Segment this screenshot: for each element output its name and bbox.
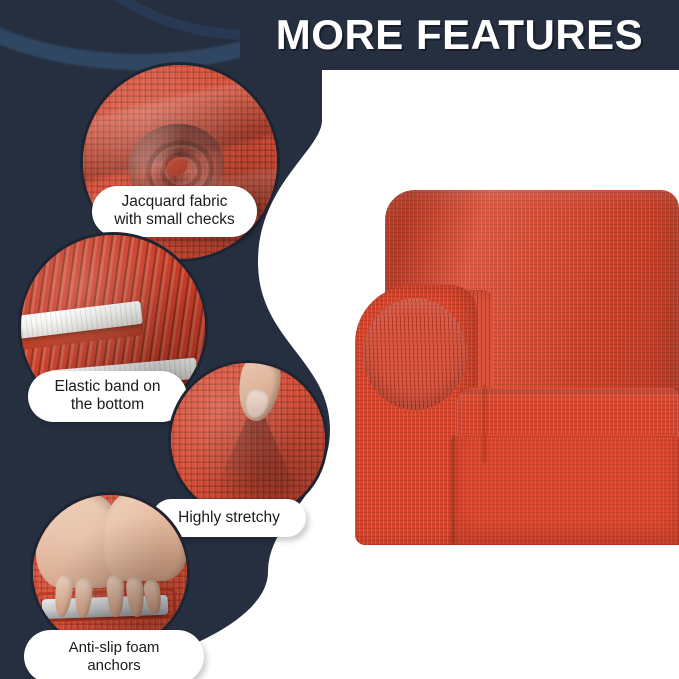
fabric-shading	[171, 363, 325, 517]
header-banner: MORE FEATURES	[240, 0, 679, 70]
product-feature-graphic: MORE FEATURES Jacquard fabric with small…	[0, 0, 679, 679]
feature-label-jacquard-fabric: Jacquard fabric with small checks	[92, 186, 257, 237]
product-photo-sofa	[355, 190, 679, 555]
feature-image-anti-slip-foam-anchors	[30, 492, 190, 652]
feature-label-anti-slip-foam-anchors: Anti-slip foam anchors	[24, 630, 204, 679]
page-title: MORE FEATURES	[276, 14, 643, 56]
sofa-seam	[451, 436, 455, 544]
sofa-arm-roll	[363, 298, 467, 410]
fabric-shading	[33, 495, 187, 649]
feature-image-highly-stretchy	[168, 360, 328, 520]
feature-label-elastic-band: Elastic band on the bottom	[28, 371, 187, 422]
sofa-seam	[483, 385, 486, 463]
sofa-seam	[459, 390, 679, 393]
